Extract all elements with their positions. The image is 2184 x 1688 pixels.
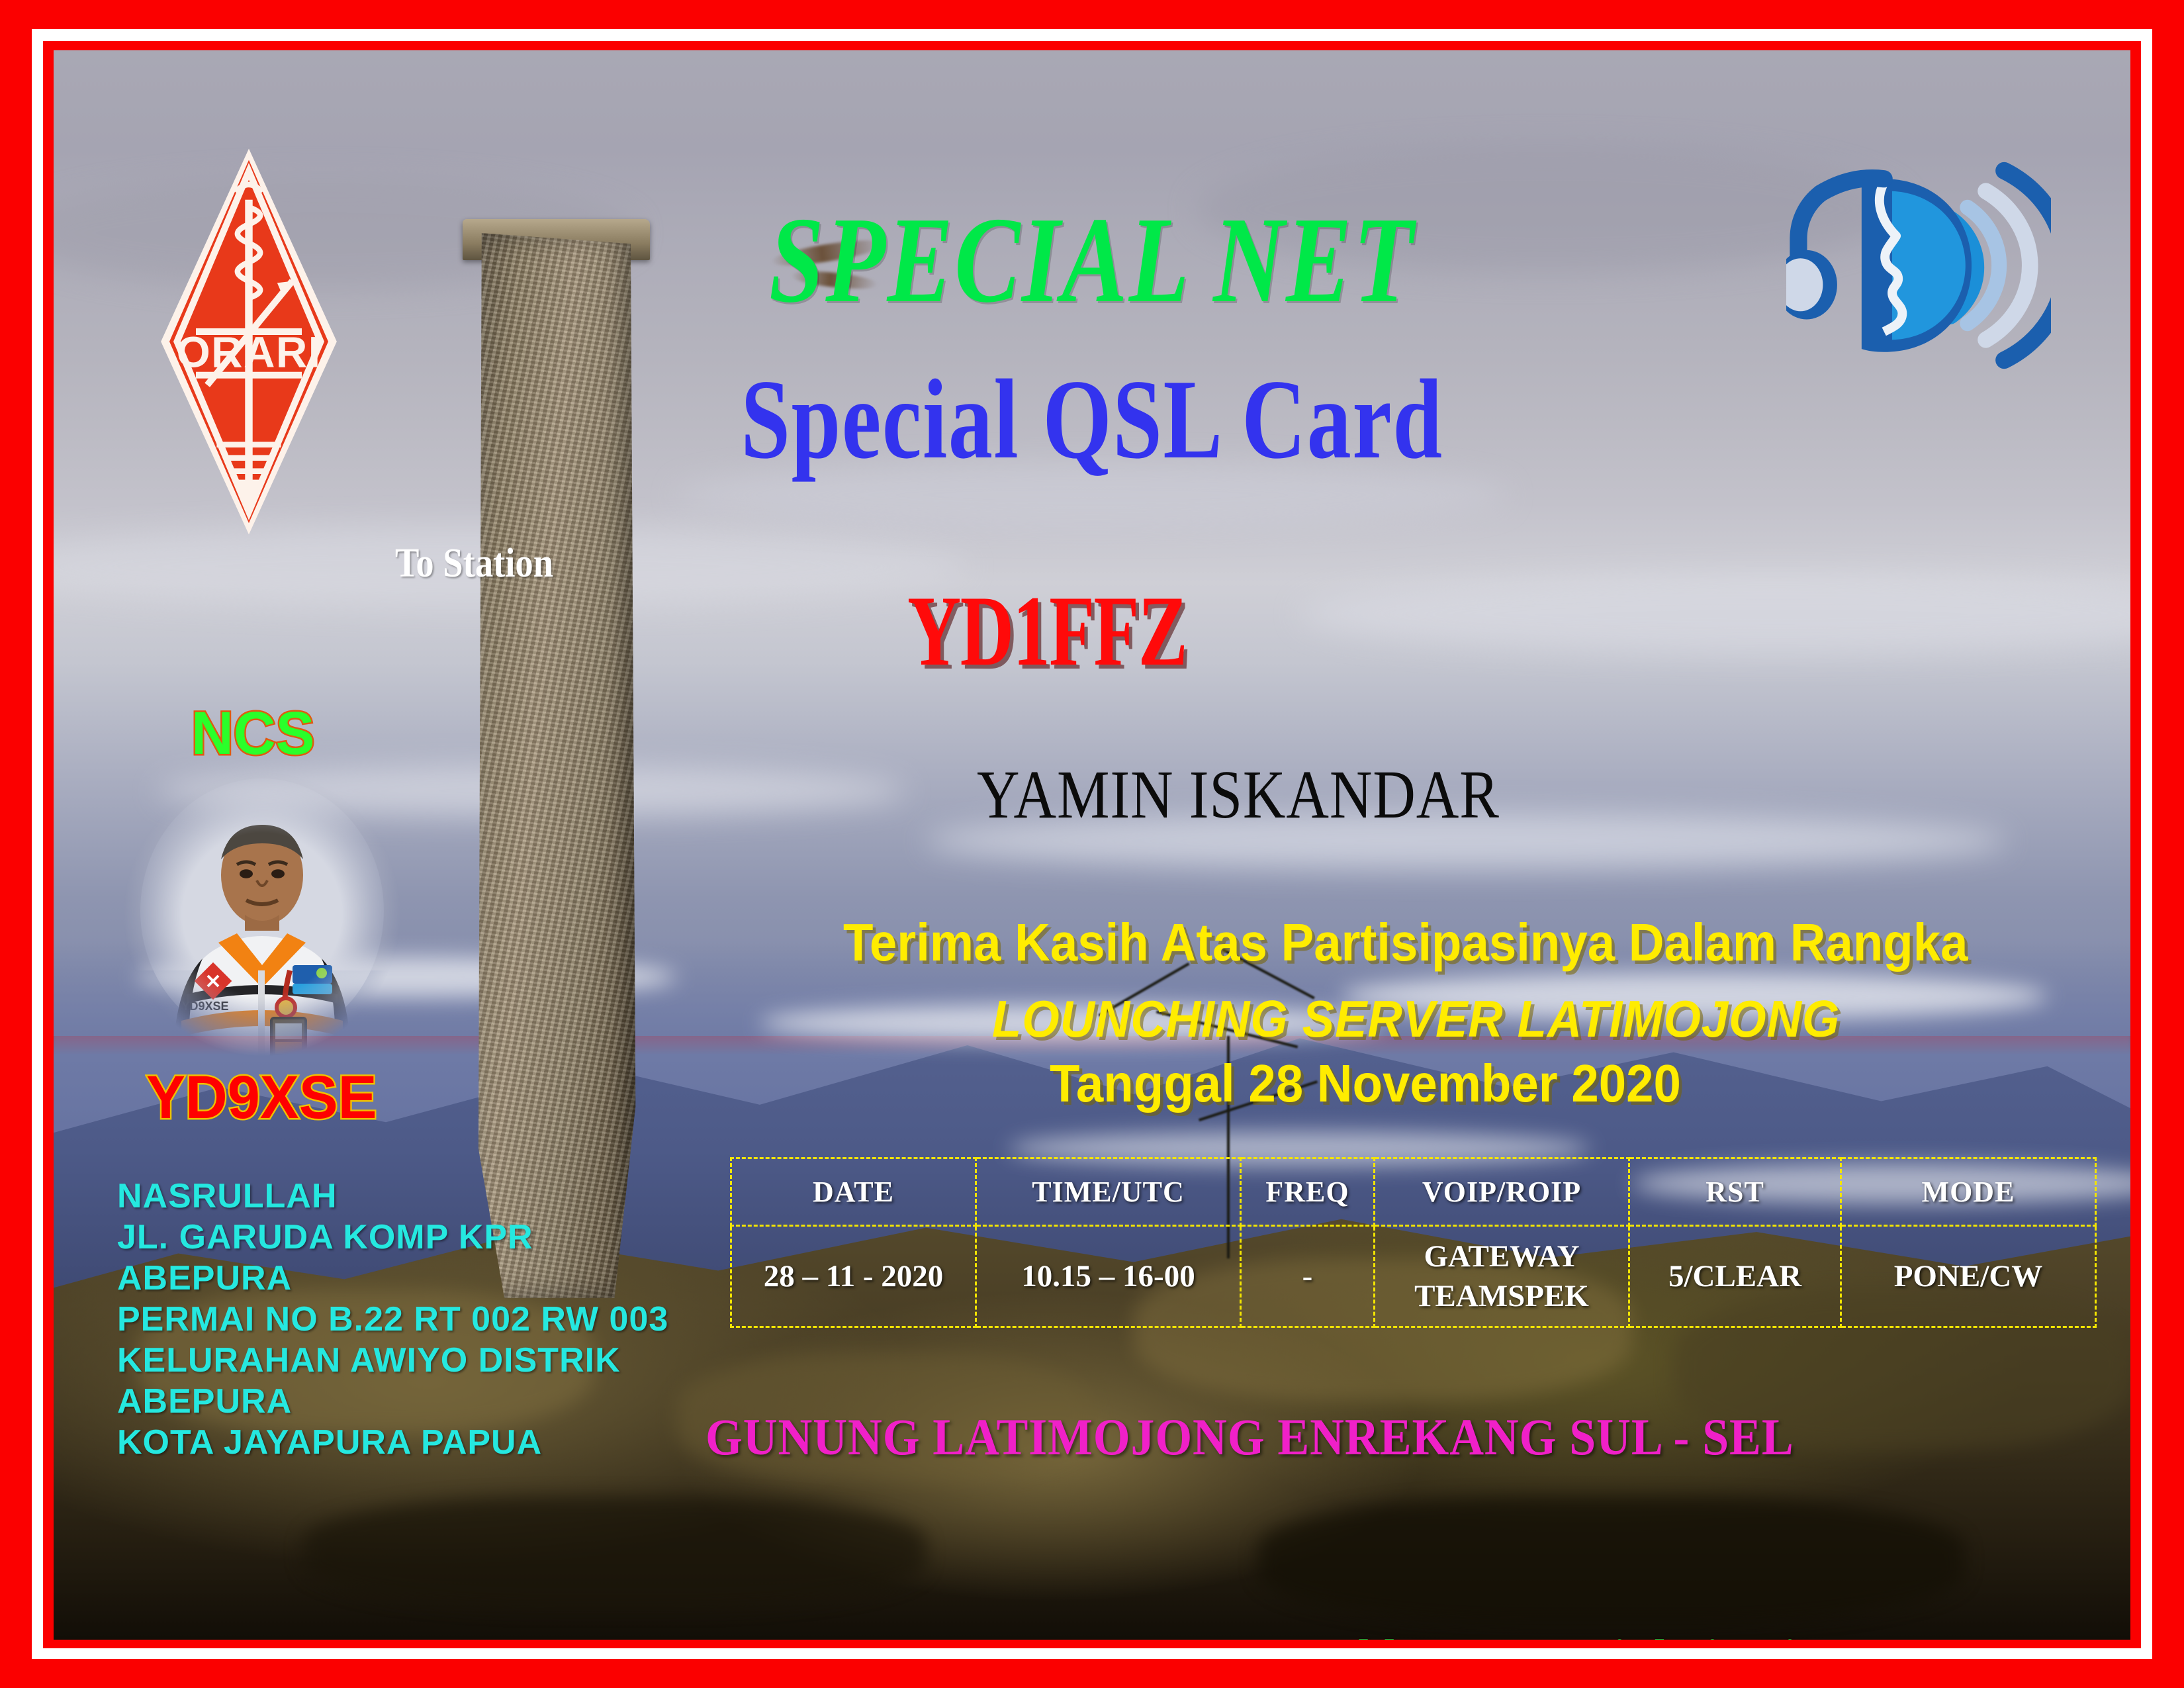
cell-voip-roip: GATEWAY TEAMSPEK [1375, 1226, 1629, 1327]
cell-rst: 5/CLEAR [1629, 1226, 1841, 1327]
address-line: ABEPURA [117, 1381, 668, 1422]
qsl-card: ORARI SPECIAL [0, 0, 2184, 1688]
recipient-callsign: YD1FFZ [907, 573, 1187, 688]
cell-freq: - [1241, 1226, 1375, 1327]
operator-name: YAMIN ISKANDAR [977, 755, 1500, 834]
web-address-text: Address : amatir.latimojong.com [1311, 1629, 1964, 1640]
address-line: KELURAHAN AWIYO DISTRIK [117, 1340, 668, 1381]
address-line: JL. GARUDA KOMP KPR [117, 1217, 668, 1258]
ground-texture [1258, 1497, 1964, 1624]
column-header-voip-roip: VOIP/ROIP [1375, 1158, 1629, 1226]
thanks-line-3: Tanggal 28 November 2020 [1050, 1053, 1681, 1114]
cell-voip-line-2: TEAMSPEK [1378, 1276, 1625, 1316]
thanks-line-1: Terima Kasih Atas Partisipasinya Dalam R… [843, 912, 1968, 973]
cell-voip-line-1: GATEWAY [1378, 1237, 1625, 1276]
station-address-block: NASRULLAH JL. GARUDA KOMP KPR ABEPURA PE… [117, 1176, 668, 1463]
column-header-rst: RST [1629, 1158, 1841, 1226]
cell-time: 10.15 – 16-00 [976, 1226, 1241, 1327]
to-station-label: To Station [395, 540, 553, 587]
ground-texture [303, 1497, 926, 1608]
ncs-callsign: YD9XSE [146, 1063, 377, 1133]
column-header-mode: MODE [1841, 1158, 2096, 1226]
cell-mode: PONE/CW [1841, 1226, 2096, 1327]
card-subtitle: Special QSL Card [282, 355, 1902, 485]
column-header-time: TIME/UTC [976, 1158, 1241, 1226]
table-row: 28 – 11 - 2020 10.15 – 16-00 - GATEWAY T… [731, 1226, 2096, 1327]
qso-details-table: DATE TIME/UTC FREQ VOIP/ROIP RST MODE 28… [730, 1157, 2097, 1328]
background-photograph: ORARI SPECIAL [54, 50, 2130, 1640]
ncs-operator-photo: YD9XSE [123, 772, 401, 1056]
address-line: ABEPURA [117, 1258, 668, 1299]
shirt-callsign-text: YD9XSE [181, 1000, 228, 1013]
thanks-line-2: LOUNCHING SERVER LATIMOJONG [992, 989, 1840, 1049]
column-header-date: DATE [731, 1158, 976, 1226]
page-title: SPECIAL NET [261, 189, 1923, 331]
cell-date: 28 – 11 - 2020 [731, 1226, 976, 1327]
event-location-line: GUNUNG LATIMOJONG ENREKANG SUL - SEL [705, 1407, 1794, 1467]
ncs-label: NCS [191, 699, 314, 769]
motto-text: "AMATIR RADIO ADALAH PROGRESIVE" [133, 1629, 1095, 1640]
column-header-freq: FREQ [1241, 1158, 1375, 1226]
address-line: PERMAI NO B.22 RT 002 RW 003 [117, 1299, 668, 1340]
table-header-row: DATE TIME/UTC FREQ VOIP/ROIP RST MODE [731, 1158, 2096, 1226]
address-line: KOTA JAYAPURA PAPUA [117, 1422, 668, 1463]
address-line: NASRULLAH [117, 1176, 668, 1217]
